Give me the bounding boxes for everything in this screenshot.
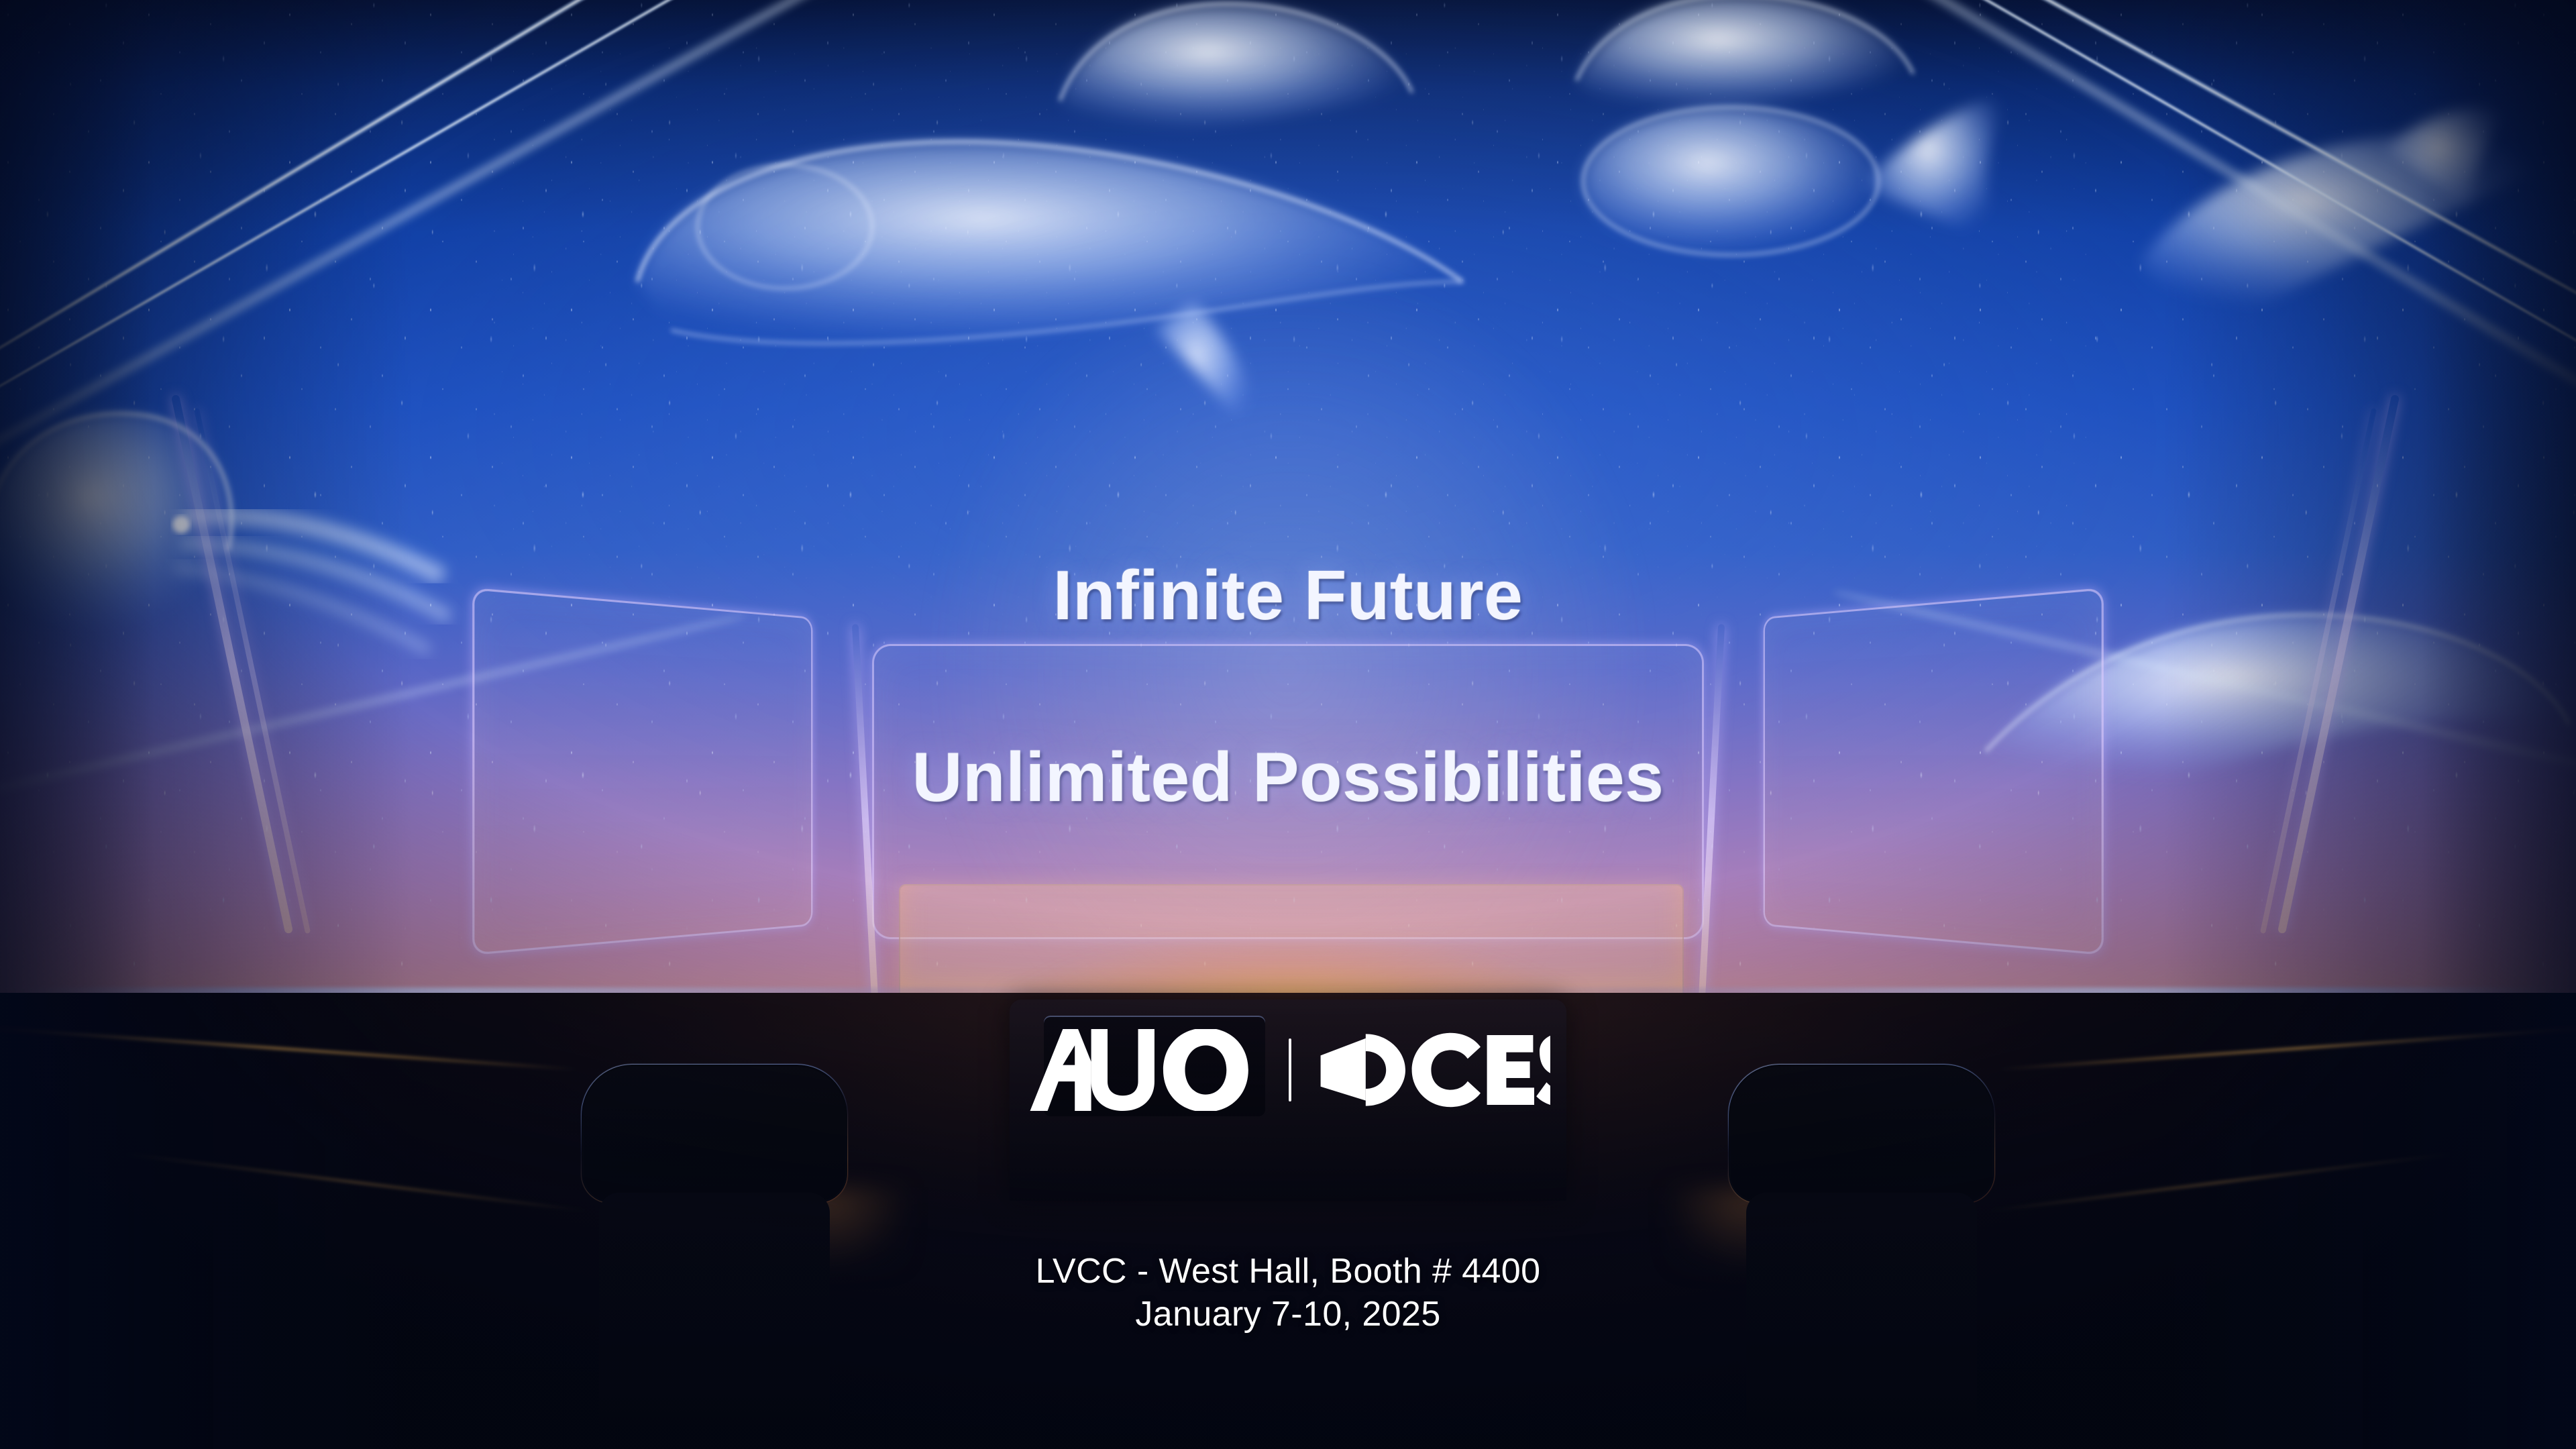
event-info: LVCC - West Hall, Booth # 4400 January 7… xyxy=(0,1250,2576,1336)
logo-lockup xyxy=(0,1029,2576,1111)
event-venue: LVCC - West Hall, Booth # 4400 xyxy=(0,1250,2576,1293)
logo-divider xyxy=(1289,1038,1291,1102)
headline-line-1: Infinite Future xyxy=(0,551,2576,641)
key-visual-stage: Infinite Future Unlimited Possibilities xyxy=(0,0,2576,1449)
ces-logo-icon xyxy=(1320,1030,1550,1110)
auo-logo-icon xyxy=(1026,1029,1260,1111)
event-dates: January 7-10, 2025 xyxy=(0,1293,2576,1336)
headline-line-2: Unlimited Possibilities xyxy=(0,733,2576,823)
headline: Infinite Future Unlimited Possibilities xyxy=(0,460,2576,914)
